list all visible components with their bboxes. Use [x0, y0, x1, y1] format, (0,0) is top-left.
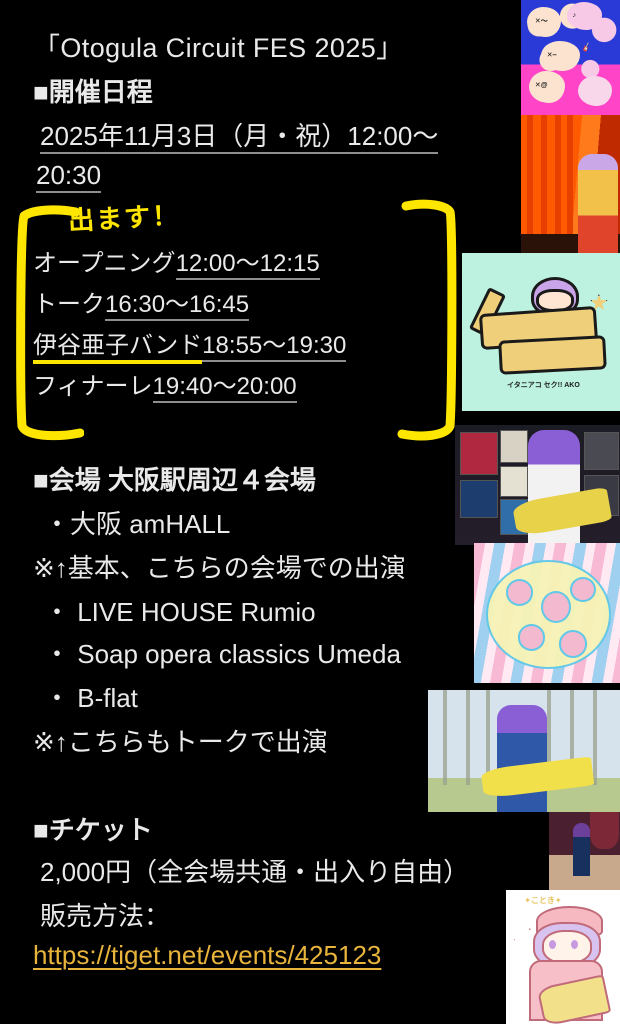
live-stage-photo-image: [549, 812, 620, 890]
schedule-time: 18:55〜19:30: [202, 332, 346, 362]
outdoor-guitar-photo-image: [428, 690, 620, 812]
venue-item: ・ LIVE HOUSE Rumio: [44, 592, 316, 629]
venue-main: ・大阪 amHALL: [44, 504, 230, 541]
schedule-row: オープニング12:00〜12:15: [33, 243, 346, 284]
venue-item: ・ B-flat: [44, 678, 138, 715]
schedule-name: トーク: [33, 291, 105, 318]
striped-doodle-art-image: [474, 543, 620, 683]
event-date-line-1-text: 2025年11月3日（月・祝）12:00〜: [40, 121, 438, 154]
ticket-price: 2,000円（全会場共通・出入り自由）: [40, 852, 469, 889]
event-date-line-2: 20:30: [36, 160, 101, 191]
chibi-character-art-image: ✦ことき✦: [506, 890, 620, 1024]
yellow-bracket-right-icon: [396, 196, 458, 444]
schedule-row: フィナーレ19:40〜20:00: [33, 366, 346, 407]
poster-canvas: ✕～ ♪ ✕‒ ✕@ 🎸 イタニアコ セク!! AKO: [0, 0, 620, 1024]
torii-gate-photo-image: [521, 115, 620, 253]
venue-note-other: ※↑こちらもトークで出演: [33, 722, 328, 759]
schedule-time: 19:40〜20:00: [153, 373, 297, 403]
elekigorigori-logo-image: イタニアコ セク!! AKO: [462, 253, 620, 411]
handwritten-note: 出ます！: [67, 195, 181, 238]
schedule-list: オープニング12:00〜12:15 トーク16:30〜16:45 伊谷亜子バンド…: [33, 243, 346, 407]
record-shop-photo-image: [455, 425, 620, 545]
section-heading-ticket: ■チケット: [33, 810, 153, 847]
schedule-row: トーク16:30〜16:45: [33, 284, 346, 325]
schedule-name: フィナーレ: [33, 373, 153, 400]
schedule-name: オープニング: [33, 250, 176, 277]
section-heading-date: ■開催日程: [33, 72, 153, 109]
venue-item: ・ Soap opera classics Umeda: [44, 634, 401, 671]
schedule-name: 伊谷亜子バンド: [33, 332, 202, 364]
ticket-url-link[interactable]: https://tiget.net/events/425123: [33, 940, 381, 971]
section-heading-venue: ■会場 大阪駅周辺４会場: [33, 460, 316, 497]
schedule-time: 12:00〜12:15: [176, 250, 320, 280]
event-date-line-2-text: 20:30: [36, 160, 101, 193]
event-date-line-1: 2025年11月3日（月・祝）12:00〜: [40, 116, 438, 153]
schedule-row-highlighted: 伊谷亜子バンド18:55〜19:30: [33, 325, 346, 366]
ticket-sales-label: 販売方法：: [40, 896, 170, 933]
schedule-time: 16:30〜16:45: [105, 291, 249, 321]
venue-note-main: ※↑基本、こちらの会場での出演: [33, 548, 406, 585]
page-title: 「Otogula Circuit FES 2025」: [33, 26, 404, 65]
doodle-art-blue-pink-image: ✕～ ♪ ✕‒ ✕@ 🎸: [521, 0, 620, 115]
